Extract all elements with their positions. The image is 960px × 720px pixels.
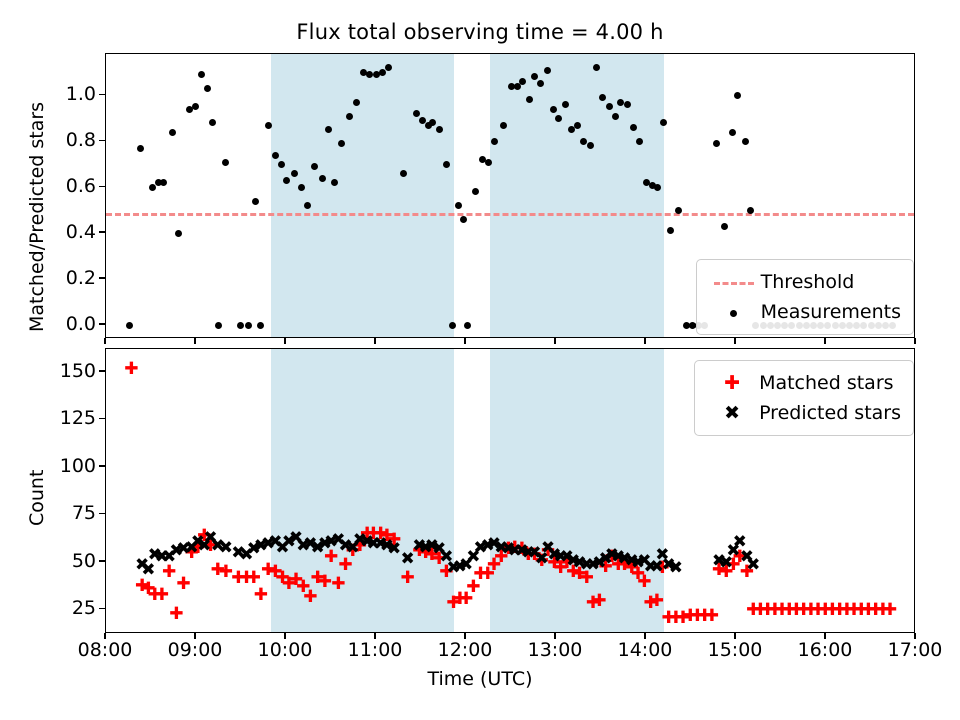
ytick-mark — [99, 186, 105, 188]
matched-star-point: ✚ — [169, 606, 183, 623]
figure: Flux total observing time = 4.00 h 0.00.… — [0, 0, 960, 720]
xtick-label: 09:00 — [168, 639, 223, 661]
xtick-mark — [104, 633, 106, 639]
legend-item: ✖Predicted stars — [705, 398, 901, 428]
measurement-point — [245, 322, 252, 329]
ratio-y-axis-label: Matched/Predicted stars — [26, 102, 48, 332]
xtick-mark — [824, 633, 826, 639]
matched-star-point: ✚ — [303, 589, 317, 606]
measurement-point — [742, 138, 749, 145]
xtick-label: 13:00 — [528, 639, 583, 661]
measurement-point — [257, 322, 264, 329]
measurement-point — [204, 85, 211, 92]
xtick-label: 12:00 — [438, 639, 493, 661]
legend-item: ✚Matched stars — [705, 368, 901, 398]
xtick-mark — [104, 338, 106, 344]
xtick-label: 10:00 — [258, 639, 313, 661]
ytick-mark — [99, 560, 105, 562]
ytick-mark — [99, 94, 105, 96]
measurement-point — [278, 161, 285, 168]
measurement-point — [550, 106, 557, 113]
measurement-point — [400, 170, 407, 177]
matched-star-point: ✚ — [705, 608, 719, 625]
matched-star-point: ✚ — [254, 587, 268, 604]
xtick-mark — [644, 338, 646, 344]
ytick-mark — [99, 370, 105, 372]
matched-star-point: ✚ — [176, 576, 190, 593]
count-panel-ytick-label: 50 — [30, 550, 96, 572]
ytick-mark — [99, 323, 105, 325]
measurement-point — [160, 179, 167, 186]
matched-star-point: ✚ — [401, 570, 415, 587]
measurement-point — [630, 124, 637, 131]
plus-marker-icon: ✚ — [705, 372, 759, 394]
matched-star-point: ✚ — [331, 576, 345, 593]
chart-title: Flux total observing time = 4.00 h — [0, 20, 960, 44]
measurement-point — [455, 202, 462, 209]
measurement-point — [137, 145, 144, 152]
measurement-point — [169, 129, 176, 136]
measurement-point — [379, 69, 386, 76]
measurement-point — [436, 126, 443, 133]
legend-item: Threshold — [707, 267, 901, 297]
xtick-mark — [464, 338, 466, 344]
legend-item: Measurements — [707, 297, 901, 327]
measurement-point — [449, 322, 456, 329]
measurement-point — [265, 122, 272, 129]
xtick-mark — [734, 338, 736, 344]
measurement-point — [574, 122, 581, 129]
xtick-mark — [284, 633, 286, 639]
measurement-point — [319, 175, 326, 182]
measurement-point — [222, 159, 229, 166]
measurement-point — [237, 322, 244, 329]
ytick-mark — [99, 418, 105, 420]
measurement-point — [544, 67, 551, 74]
measurement-point — [272, 152, 279, 159]
measurement-point — [734, 92, 741, 99]
shaded-band-2 — [490, 54, 664, 337]
measurement-point — [729, 129, 736, 136]
measurement-point — [209, 119, 216, 126]
cross-marker-icon: ✖ — [705, 402, 759, 424]
measurement-point — [526, 96, 533, 103]
measurement-point — [460, 216, 467, 223]
measurement-point — [175, 230, 182, 237]
xtick-mark — [284, 338, 286, 344]
measurement-point — [624, 101, 631, 108]
xtick-mark — [194, 338, 196, 344]
matched-star-point: ✚ — [155, 587, 169, 604]
shaded-band-1 — [271, 54, 455, 337]
measurement-point — [443, 161, 450, 168]
xtick-label: 16:00 — [798, 639, 853, 661]
xtick-label: 17:00 — [888, 639, 943, 661]
legend-label: Threshold — [761, 271, 855, 293]
measurement-point — [472, 188, 479, 195]
measurement-point — [660, 119, 667, 126]
xtick-label: 15:00 — [708, 639, 763, 661]
count-panel-ytick-label: 25 — [30, 597, 96, 619]
measurement-point — [252, 198, 259, 205]
xtick-mark — [374, 338, 376, 344]
xtick-mark — [644, 633, 646, 639]
xtick-mark — [554, 338, 556, 344]
xtick-mark — [734, 633, 736, 639]
ytick-mark — [99, 513, 105, 515]
measurement-point — [555, 115, 562, 122]
legend-label: Predicted stars — [759, 402, 901, 424]
xtick-mark — [914, 633, 916, 639]
threshold-line-icon — [707, 273, 761, 292]
measurement-point — [747, 207, 754, 214]
predicted-star-point: ✖ — [669, 560, 683, 577]
matched-star-point: ✚ — [592, 593, 606, 610]
measurement-point — [298, 184, 305, 191]
predicted-star-point: ✖ — [746, 557, 760, 574]
measurement-point — [636, 138, 643, 145]
legend-label: Measurements — [761, 301, 901, 323]
predicted-star-point: ✖ — [387, 541, 401, 558]
measurement-point — [612, 113, 619, 120]
ytick-mark — [99, 608, 105, 610]
measurement-point — [126, 322, 133, 329]
x-axis-label: Time (UTC) — [0, 668, 960, 690]
count-y-axis-label: Count — [26, 469, 48, 525]
ytick-mark — [99, 231, 105, 233]
count-panel-ytick-label: 150 — [30, 360, 96, 382]
measurement-point — [198, 71, 205, 78]
measurement-point — [353, 99, 360, 106]
measurement-point — [721, 223, 728, 230]
xtick-mark — [374, 633, 376, 639]
xtick-mark — [824, 338, 826, 344]
ytick-mark — [99, 465, 105, 467]
count-legend: ✚Matched stars✖Predicted stars — [694, 360, 914, 436]
threshold-line — [106, 213, 914, 216]
xtick-label: 08:00 — [78, 639, 133, 661]
measurement-point — [346, 113, 353, 120]
matched-star-point: ✚ — [318, 574, 332, 591]
measurement-point — [562, 101, 569, 108]
measurement-point — [464, 322, 471, 329]
ytick-mark — [99, 140, 105, 142]
measurement-point — [606, 103, 613, 110]
measurement-point — [215, 322, 222, 329]
measurement-point — [192, 103, 199, 110]
measurement-point — [654, 184, 661, 191]
xtick-label: 14:00 — [618, 639, 673, 661]
count-panel-ytick-label: 125 — [30, 407, 96, 429]
measurement-point — [713, 140, 720, 147]
xtick-mark — [554, 633, 556, 639]
measurement-dot-icon — [707, 303, 761, 322]
ytick-mark — [99, 277, 105, 279]
measurement-point — [485, 159, 492, 166]
xtick-mark — [194, 633, 196, 639]
measurement-point — [667, 227, 674, 234]
xtick-label: 11:00 — [348, 639, 403, 661]
matched-star-point: ✚ — [124, 361, 138, 378]
xtick-mark — [464, 633, 466, 639]
legend-label: Matched stars — [759, 372, 893, 394]
matched-star-point: ✚ — [883, 602, 897, 619]
measurement-point — [291, 170, 298, 177]
xtick-mark — [914, 338, 916, 344]
ratio-legend: ThresholdMeasurements — [696, 259, 914, 335]
measurement-point — [675, 207, 682, 214]
